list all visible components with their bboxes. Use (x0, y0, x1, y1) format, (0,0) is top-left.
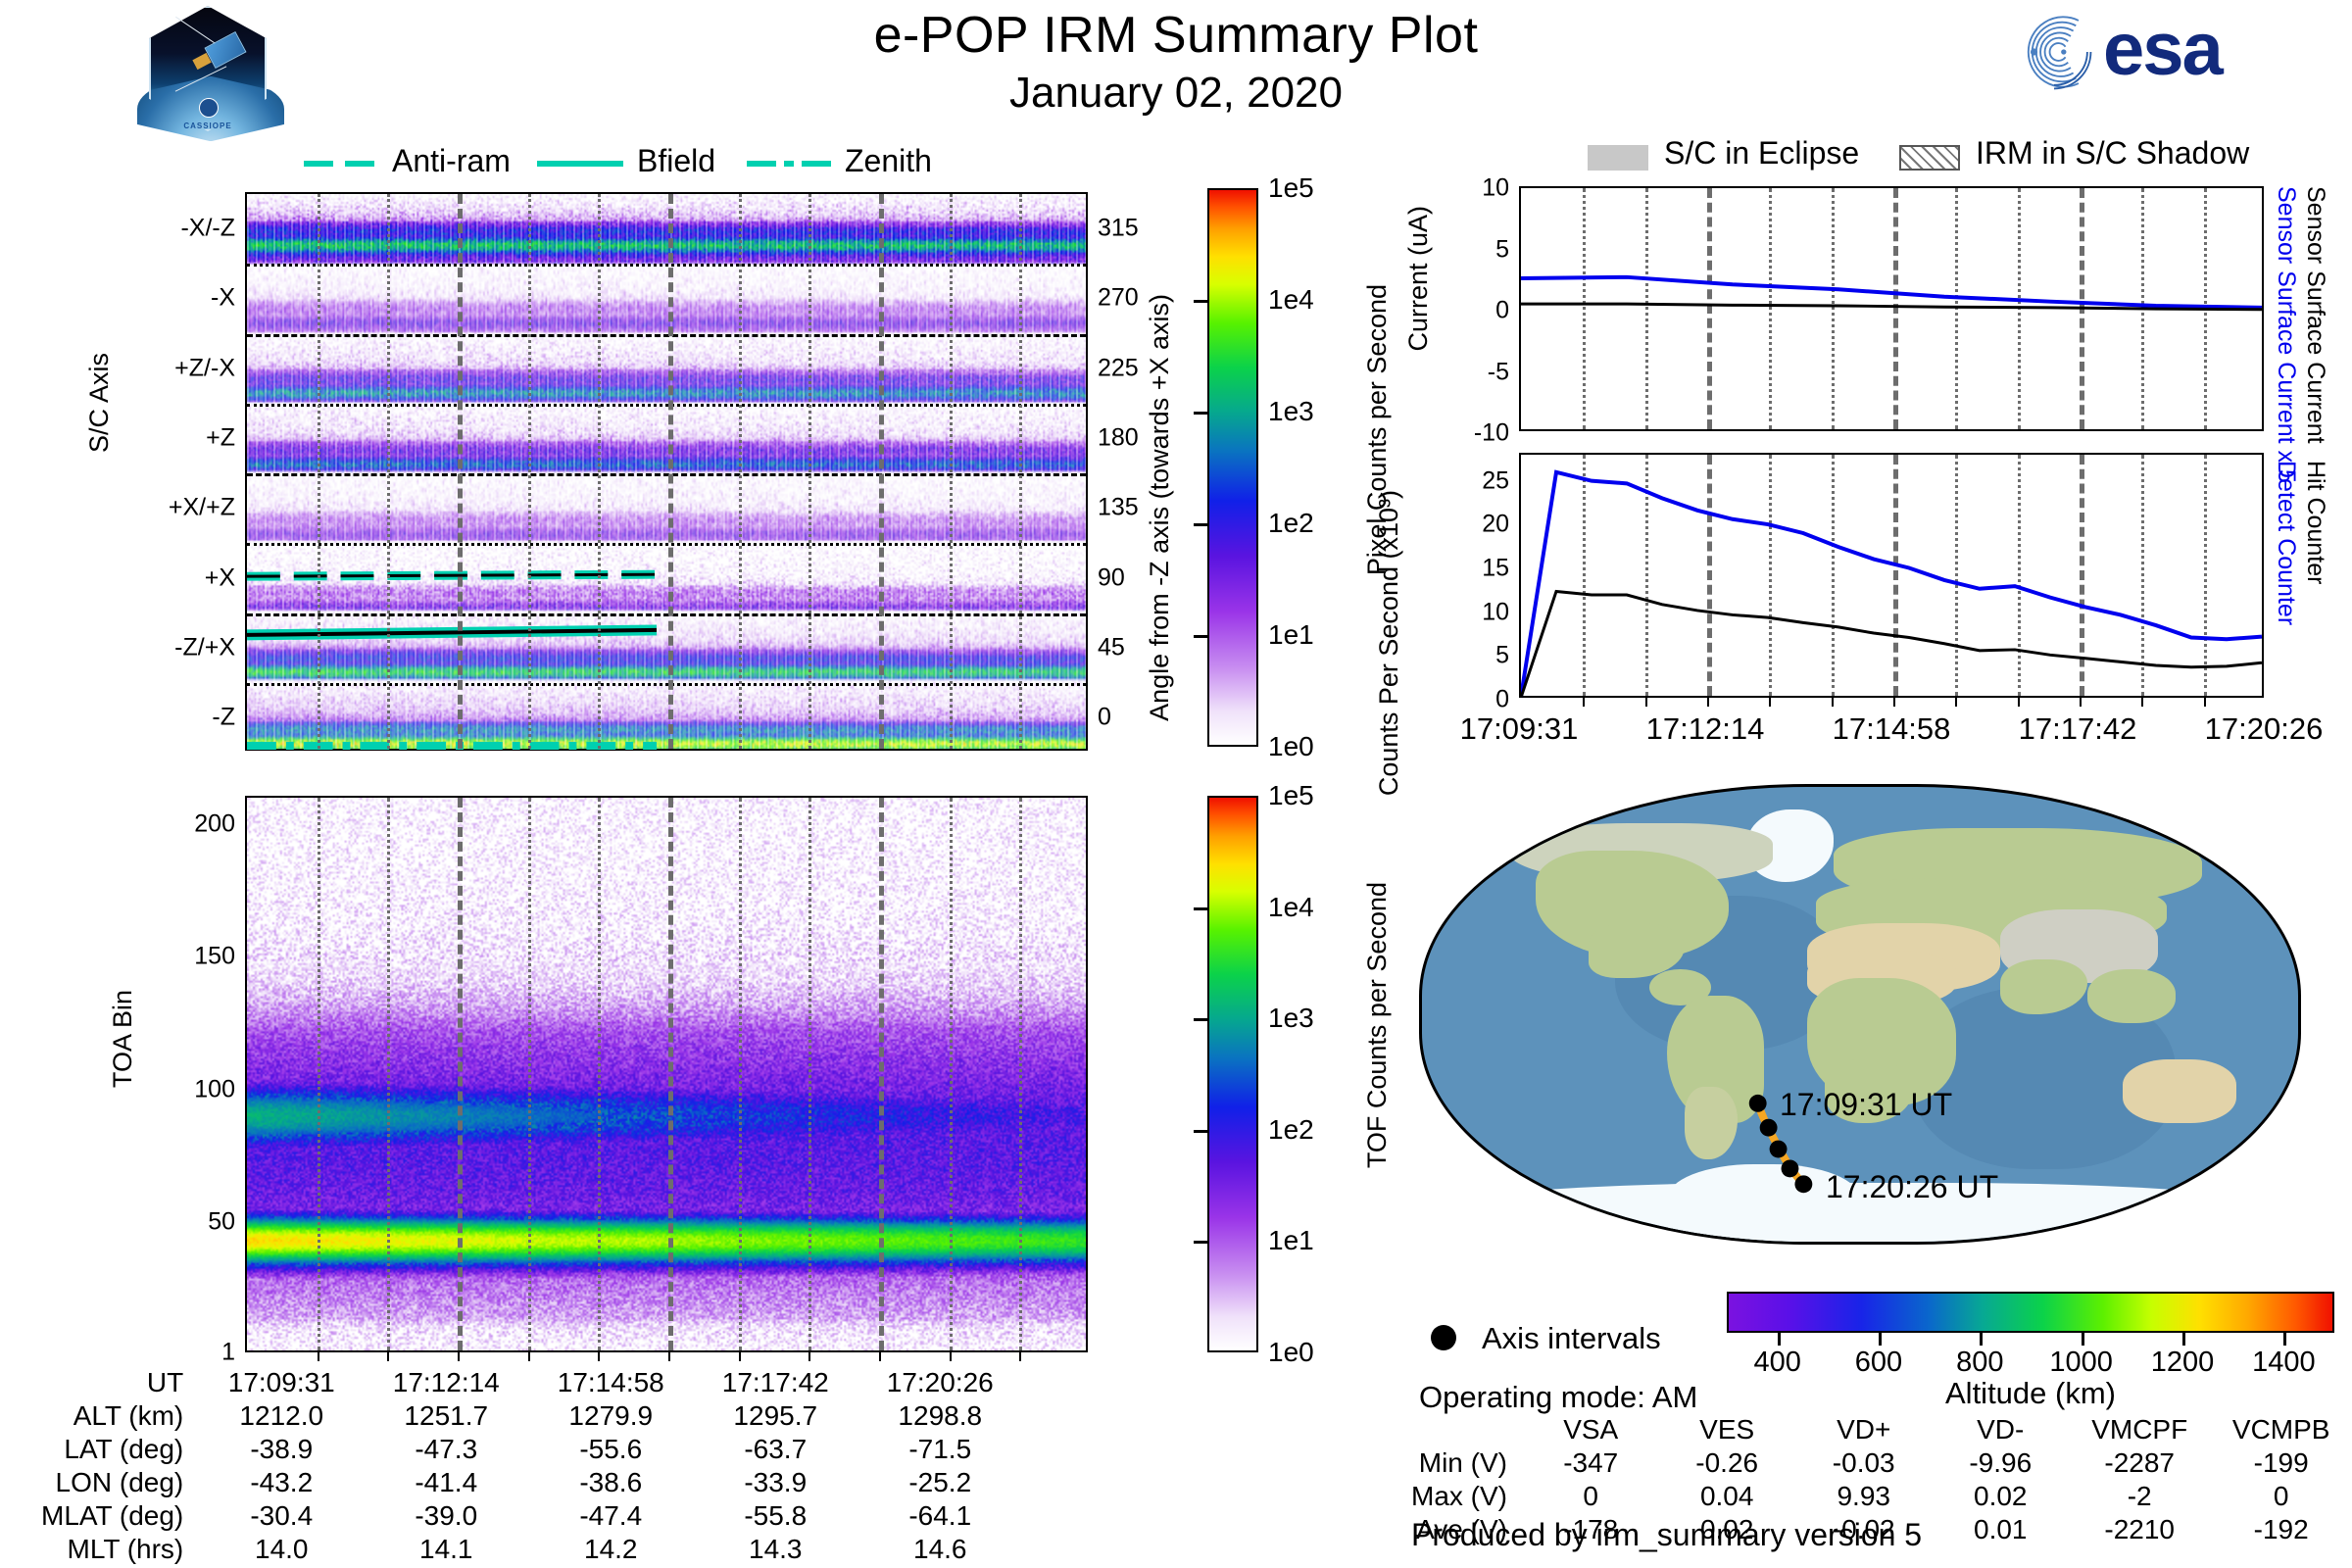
spectrogram-legend: Anti-ram Bfield Zenith (294, 143, 1039, 182)
cell: -47.3 (364, 1433, 528, 1466)
counts-tick-0: 0 (1495, 688, 1521, 712)
cell: -55.6 (528, 1433, 693, 1466)
cell: 9.93 (1795, 1480, 1933, 1513)
time-tick-label: 17:12:14 (1646, 711, 1765, 747)
cell: -64.1 (857, 1499, 1022, 1533)
legend-swatch-anti-ram-b (345, 161, 374, 167)
cell: -55.8 (693, 1499, 857, 1533)
sc-axis-ylabel: S/C Axis (84, 353, 115, 453)
column-header: VMCPF (2069, 1413, 2210, 1446)
cell: 17:20:26 (857, 1366, 1022, 1399)
cell: -41.4 (364, 1466, 528, 1499)
time-tick-label: 17:14:58 (1833, 711, 1951, 747)
row-label: UT (41, 1366, 199, 1399)
cell: -347 (1523, 1446, 1658, 1480)
angle-tick-45: 45 (1086, 636, 1125, 661)
column-header: VES (1658, 1413, 1795, 1446)
legend-swatch-bfield (537, 161, 623, 167)
toa-tick-150: 150 (194, 945, 247, 969)
row-label: Min (V) (1411, 1446, 1523, 1480)
cell: 1295.7 (693, 1399, 857, 1433)
counts-tick-25: 25 (1482, 468, 1521, 493)
toa-bin-ylabel: TOA Bin (108, 990, 138, 1088)
toa-tick-100: 100 (194, 1078, 247, 1102)
cell: -0.03 (1795, 1446, 1933, 1480)
column-header: VSA (1523, 1413, 1658, 1446)
cell: 17:17:42 (693, 1366, 857, 1399)
altitude-colorbar (1727, 1292, 2334, 1333)
altitude-tickmark (2182, 1333, 2185, 1346)
cell: 0.01 (1932, 1513, 2069, 1546)
overlay-traces (247, 194, 1086, 750)
colorbar-tick: 1e2 (1268, 1114, 1314, 1146)
current-tick-m10: -10 (1474, 421, 1521, 446)
cell: 1251.7 (364, 1399, 528, 1433)
current-tick-10: 10 (1482, 176, 1521, 201)
colorbar-tickmark (1194, 300, 1207, 303)
altitude-tickmark (1778, 1333, 1781, 1346)
legend-label-anti-ram: Anti-ram (392, 143, 511, 179)
angle-axis-label: Angle from -Z axis (towards +X axis) (1145, 294, 1175, 721)
table-row: Min (V)-347-0.26-0.03-9.96-2287-199 (1411, 1446, 2352, 1480)
counts-tick-15: 15 (1482, 557, 1521, 581)
sc-axis-tick-6: -Z/+X (174, 636, 247, 661)
page-title: e-POP IRM Summary Plot (0, 6, 2352, 65)
angle-tick-90: 90 (1086, 566, 1125, 591)
cell: -39.0 (364, 1499, 528, 1533)
row-label: MLAT (deg) (41, 1499, 199, 1533)
current-traces (1521, 188, 2262, 432)
colorbar-tick: 1e3 (1268, 1003, 1314, 1034)
axis-intervals-label: Axis intervals (1482, 1321, 1661, 1356)
altitude-tick-label: 1200 (2151, 1347, 2215, 1379)
colorbar-tickmark (1194, 412, 1207, 415)
cell: -2 (2069, 1480, 2210, 1513)
colorbar-tick: 1e4 (1268, 892, 1314, 923)
column-header: VD- (1932, 1413, 2069, 1446)
track-start-label: 17:09:31 UT (1780, 1087, 1952, 1123)
shadow-legend: S/C in Eclipse IRM in S/C Shadow (1588, 139, 2332, 178)
ephemeris-table: UT17:09:3117:12:1417:14:5817:17:4217:20:… (41, 1366, 1022, 1566)
table-row: MLT (hrs)14.014.114.214.314.6 (41, 1533, 1022, 1566)
time-tick-label: 17:09:31 (1460, 711, 1579, 747)
pixel-counts-colorbar-ticks: 1e51e41e31e21e11e0 (1207, 188, 1258, 747)
legend-swatch-irm-shadow (1899, 145, 1960, 171)
row-label: Max (V) (1411, 1480, 1523, 1513)
altitude-tickmark (1980, 1333, 1983, 1346)
row-label: ALT (km) (41, 1399, 199, 1433)
cell: 0.02 (1932, 1480, 2069, 1513)
sc-axis-tick-1: -X (211, 286, 247, 311)
cell: -43.2 (199, 1466, 364, 1499)
page-subtitle: January 02, 2020 (0, 69, 2352, 118)
colorbar-tickmark (1194, 1241, 1207, 1244)
counts-tick-20: 20 (1482, 513, 1521, 537)
altitude-tickmark (1879, 1333, 1882, 1346)
cell: 0 (2210, 1480, 2352, 1513)
altitude-tick-label: 600 (1855, 1347, 1902, 1379)
angle-tick-180: 180 (1086, 426, 1139, 451)
legend-swatch-zenith-c (802, 161, 831, 167)
current-tick-0: 0 (1495, 299, 1521, 323)
operating-mode-label: Operating mode: AM (1419, 1380, 1697, 1415)
current-series-0-label: Sensor Surface Current x 5 (2272, 186, 2300, 483)
table-header-row: VSAVESVD+VD-VMCPFVCMPB (1411, 1413, 2352, 1446)
cell: -47.4 (528, 1499, 693, 1533)
row-label: LAT (deg) (41, 1433, 199, 1466)
counts-panel[interactable]: 25 20 15 10 5 0 (1519, 453, 2264, 698)
counts-tick-10: 10 (1482, 600, 1521, 624)
counts-tick-5: 5 (1495, 644, 1521, 668)
altitude-tick-label: 1000 (2049, 1347, 2113, 1379)
cell: 14.2 (528, 1533, 693, 1566)
altitude-tickmark (2082, 1333, 2084, 1346)
toa-bin-spectrogram[interactable]: 200 150 100 50 1 (245, 796, 1088, 1352)
cell: -25.2 (857, 1466, 1022, 1499)
cell: 14.1 (364, 1533, 528, 1566)
esa-logo-icon: esa (2009, 10, 2283, 94)
current-tick-5: 5 (1495, 237, 1521, 262)
legend-swatch-zenith-a (747, 161, 776, 167)
legend-label-zenith: Zenith (845, 143, 932, 179)
cell: -38.9 (199, 1433, 364, 1466)
cell: 14.0 (199, 1533, 364, 1566)
colorbar-tick: 1e0 (1268, 1337, 1314, 1368)
counts-ylabel: Counts Per Second (x10³) (1372, 490, 1435, 796)
axis-interval-marker-icon (1431, 1325, 1456, 1350)
colorbar-tick: 1e0 (1268, 731, 1314, 762)
counts-series-0-label: Detect Counter (2272, 461, 2300, 625)
table-row: UT17:09:3117:12:1417:14:5817:17:4217:20:… (41, 1366, 1022, 1399)
cell: 14.6 (857, 1533, 1022, 1566)
angle-tick-0: 0 (1086, 706, 1111, 730)
cell: -2210 (2069, 1513, 2210, 1546)
colorbar-tick: 1e5 (1268, 780, 1314, 811)
legend-label-bfield: Bfield (637, 143, 715, 179)
colorbar-tickmark (1194, 523, 1207, 526)
toa-tick-50: 50 (208, 1210, 247, 1235)
angle-tick-225: 225 (1086, 357, 1139, 381)
legend-label-eclipse: S/C in Eclipse (1664, 135, 1859, 171)
sc-axis-spectrogram[interactable]: -X/-Z -X +Z/-X +Z +X/+Z +X -Z/+X -Z 315 … (245, 192, 1088, 751)
cell: -9.96 (1932, 1446, 2069, 1480)
cell: 14.3 (693, 1533, 857, 1566)
current-ylabel: Current (uA) (1403, 206, 1434, 352)
sc-axis-tick-2: +Z/-X (174, 357, 247, 381)
esa-wordmark: esa (2103, 8, 2222, 92)
cell: 0 (1523, 1480, 1658, 1513)
colorbar-tickmark (1194, 635, 1207, 638)
cell: 1212.0 (199, 1399, 364, 1433)
colorbar-tickmark (1194, 1130, 1207, 1133)
cell: 17:14:58 (528, 1366, 693, 1399)
cell: -38.6 (528, 1466, 693, 1499)
cell: -30.4 (199, 1499, 364, 1533)
table-row: Max (V)00.049.930.02-20 (1411, 1480, 2352, 1513)
cell: 17:09:31 (199, 1366, 364, 1399)
footer-produced-by: Produced by irm_summary version 5 (1411, 1517, 1922, 1553)
patch-label: CASSIOPE (149, 122, 267, 130)
esa-mark-icon (2009, 12, 2099, 92)
cassiope-mission-patch-icon: CASSIOPE (149, 6, 267, 131)
altitude-tick-label: 400 (1753, 1347, 1800, 1379)
column-header: VCMPB (2210, 1413, 2352, 1446)
cell: -192 (2210, 1513, 2352, 1546)
colorbar-tick: 1e4 (1268, 284, 1314, 316)
sc-axis-tick-5: +X (205, 566, 247, 591)
cell: 17:12:14 (364, 1366, 528, 1399)
table-row: MLAT (deg)-30.4-39.0-47.4-55.8-64.1 (41, 1499, 1022, 1533)
altitude-tick-label: 800 (1956, 1347, 2003, 1379)
sc-axis-tick-7: -Z (212, 706, 247, 730)
altitude-tickmark (2283, 1333, 2286, 1346)
sc-axis-tick-4: +X/+Z (169, 496, 247, 520)
altitude-colorbar-ticks: 400600800100012001400 (1727, 1333, 2334, 1376)
row-label: LON (deg) (41, 1466, 199, 1499)
track-end-label: 17:20:26 UT (1826, 1169, 1998, 1205)
current-panel[interactable]: 10 5 0 -5 -10 (1519, 186, 2264, 431)
cell: 1298.8 (857, 1399, 1022, 1433)
cell: -0.26 (1658, 1446, 1795, 1480)
colorbar-tickmark (1194, 1018, 1207, 1021)
spectrogram-raster (247, 798, 1086, 1350)
cell: -33.9 (693, 1466, 857, 1499)
legend-swatch-zenith-b (784, 161, 794, 167)
table-row: ALT (km)1212.01251.71279.91295.71298.8 (41, 1399, 1022, 1433)
table-row: LAT (deg)-38.9-47.3-55.6-63.7-71.5 (41, 1433, 1022, 1466)
cell: -199 (2210, 1446, 2352, 1480)
legend-swatch-eclipse (1588, 145, 1648, 171)
cell: -71.5 (857, 1433, 1022, 1466)
time-tick-label: 17:20:26 (2205, 711, 2324, 747)
altitude-colorbar-label: Altitude (km) (1727, 1376, 2334, 1411)
toa-tick-200: 200 (194, 812, 247, 837)
counts-xaxis-labels: 17:09:3117:12:1417:14:5817:17:4217:20:26 (1519, 708, 2264, 747)
current-tick-m5: -5 (1488, 360, 1521, 384)
counts-series-1-label: Hit Counter (2301, 461, 2329, 584)
angle-tick-270: 270 (1086, 286, 1139, 311)
legend-label-irm-shadow: IRM in S/C Shadow (1976, 135, 2249, 171)
sc-axis-tick-3: +Z (206, 426, 247, 451)
row-label: MLT (hrs) (41, 1533, 199, 1566)
ground-track-map[interactable]: 17:09:31 UT 17:20:26 UT (1419, 784, 2301, 1245)
sc-axis-tick-0: -X/-Z (180, 217, 247, 241)
tof-counts-colorbar-ticks: 1e51e41e31e21e11e0 (1207, 796, 1258, 1352)
altitude-tick-label: 1400 (2252, 1347, 2316, 1379)
cell: -2287 (2069, 1446, 2210, 1480)
time-tick-label: 17:17:42 (2019, 711, 2137, 747)
colorbar-tick: 1e1 (1268, 1225, 1314, 1256)
corner-cell (1411, 1413, 1523, 1446)
counts-traces (1521, 455, 2262, 699)
legend-swatch-anti-ram-a (304, 161, 333, 167)
colorbar-tick: 1e2 (1268, 508, 1314, 539)
current-series-1-label: Sensor Surface Current (2301, 186, 2329, 444)
cell: 0.04 (1658, 1480, 1795, 1513)
colorbar-tickmark (1194, 907, 1207, 910)
angle-tick-315: 315 (1086, 217, 1139, 241)
cell: -63.7 (693, 1433, 857, 1466)
tof-counts-colorbar-label: TOF Counts per Second (1362, 882, 1393, 1168)
cell: 1279.9 (528, 1399, 693, 1433)
toa-tick-1: 1 (221, 1341, 247, 1365)
colorbar-tick: 1e1 (1268, 619, 1314, 651)
angle-tick-135: 135 (1086, 496, 1139, 520)
table-row: LON (deg)-43.2-41.4-38.6-33.9-25.2 (41, 1466, 1022, 1499)
column-header: VD+ (1795, 1413, 1933, 1446)
colorbar-tick: 1e5 (1268, 172, 1314, 204)
colorbar-tick: 1e3 (1268, 396, 1314, 427)
